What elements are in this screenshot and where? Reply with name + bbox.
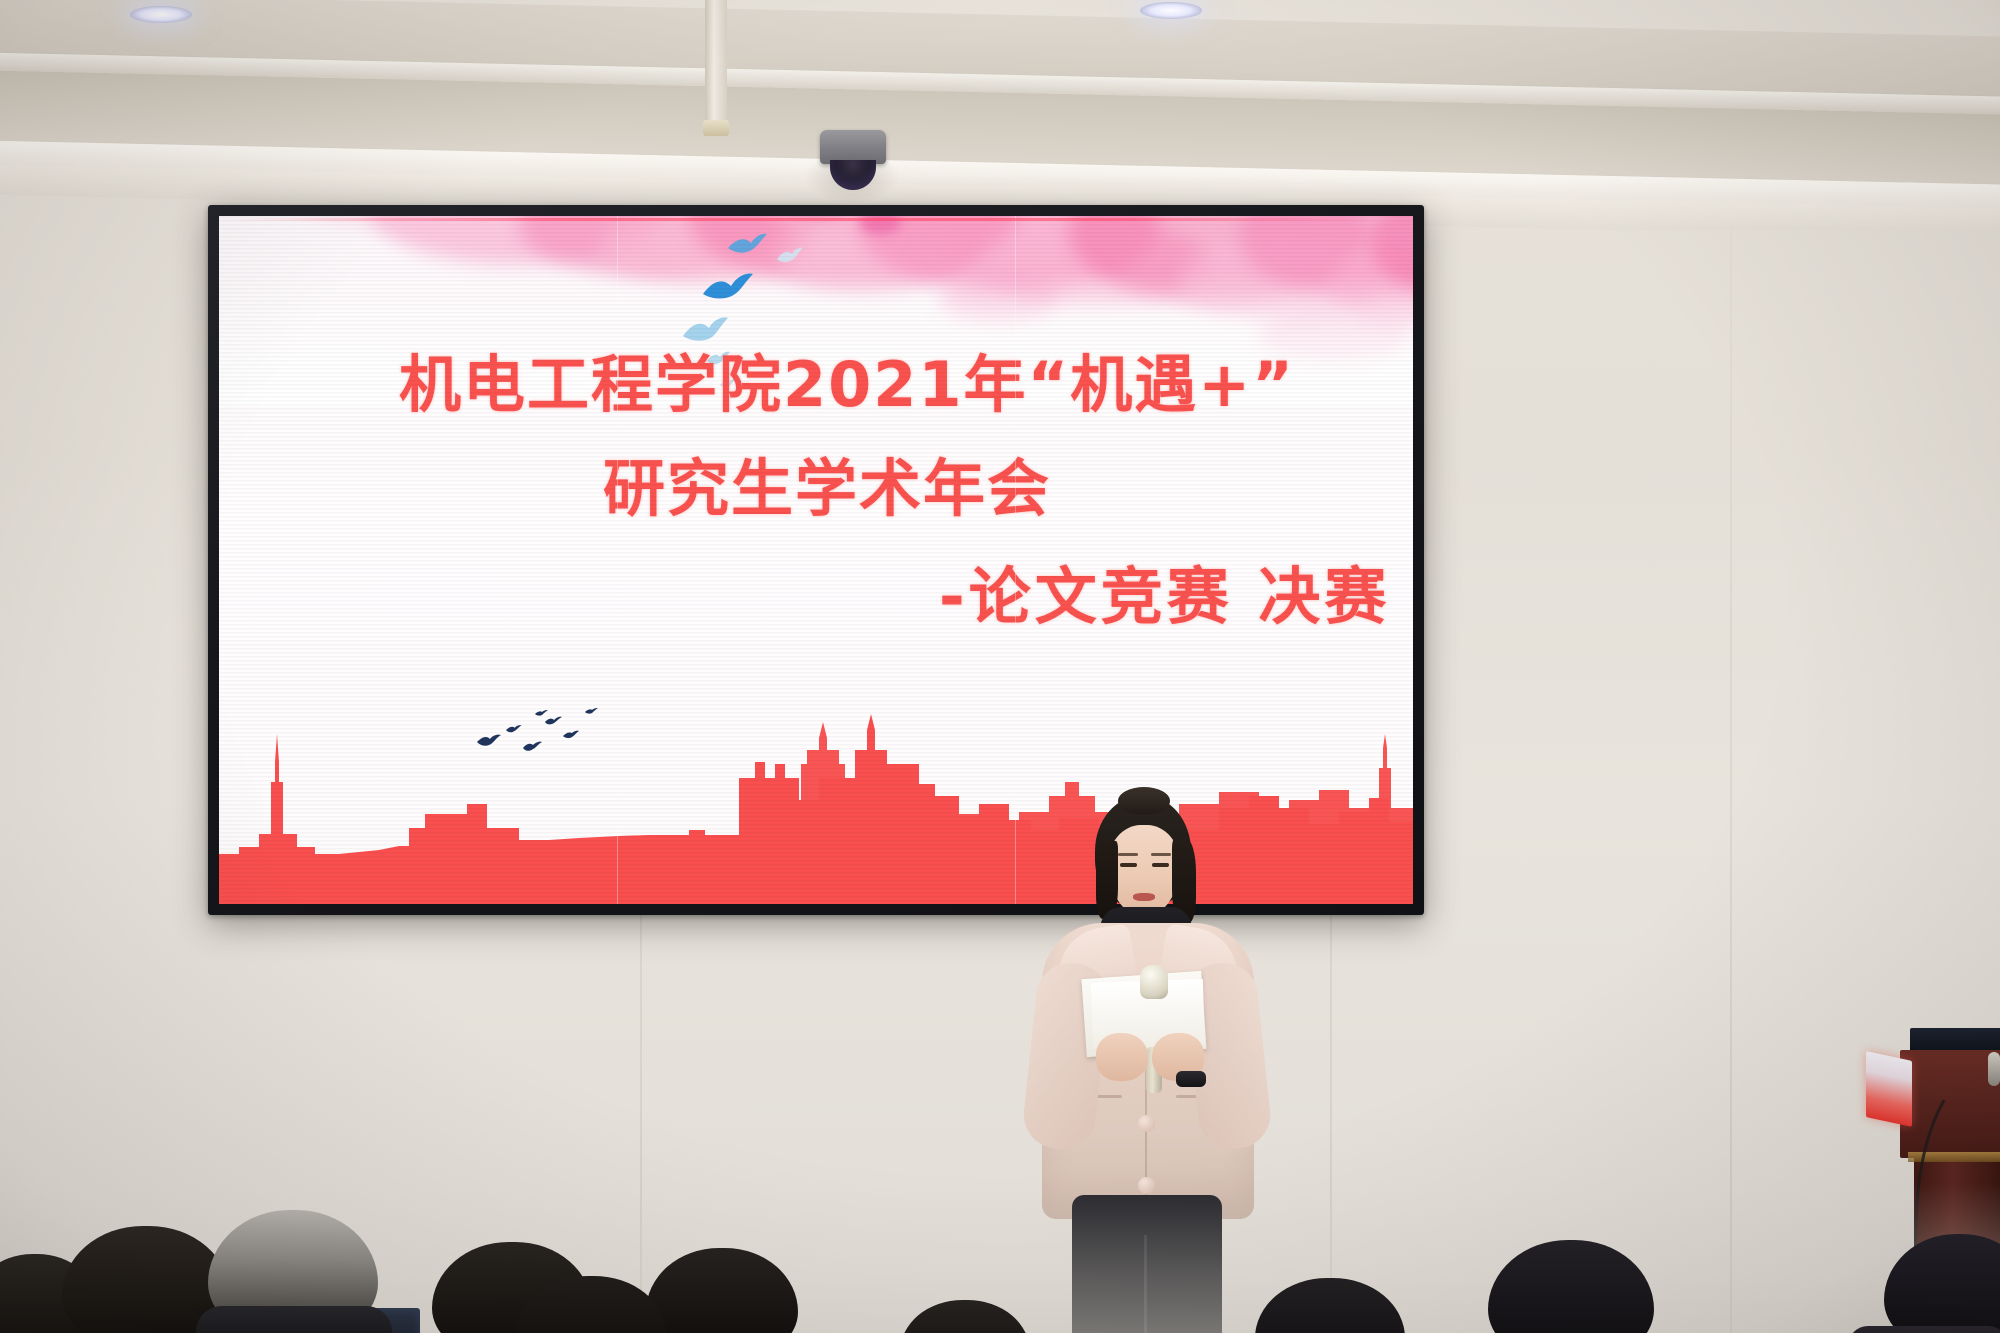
presenter-hair-bun	[1118, 787, 1170, 815]
presenter-brow-right	[1151, 853, 1171, 856]
presenter-eye-left	[1120, 863, 1137, 867]
slide-title-line-1: 机电工程学院2021年“机遇+”	[399, 334, 1295, 424]
bird-flock-icon	[467, 702, 617, 762]
screen-edge-glow	[222, 218, 1388, 221]
ceiling-spotlight-icon	[130, 6, 192, 23]
ceiling	[0, 0, 2000, 230]
presenter-coat-button	[1138, 1115, 1155, 1132]
conference-hall-photo: 机电工程学院2021年“机遇+” 研究生学术年会 -论文竞赛 决赛	[0, 0, 2000, 1333]
bird-icon	[725, 228, 769, 262]
handheld-microphone	[1140, 965, 1168, 999]
audience-head	[646, 1248, 798, 1333]
ceiling-pipe-cap	[703, 120, 729, 136]
bird-icon	[775, 244, 805, 270]
ceiling-spotlight-icon	[1140, 2, 1202, 19]
presenter-eye-right	[1152, 863, 1169, 867]
presenter-mouth	[1133, 893, 1155, 901]
audience-head	[1255, 1278, 1405, 1333]
audience-head	[1488, 1240, 1654, 1333]
wristwatch	[1176, 1071, 1206, 1087]
ceiling-drop-pipe	[705, 0, 727, 128]
slide-title-line-2: 研究生学术年会	[603, 438, 1051, 528]
podium-microphone	[1988, 1052, 2000, 1086]
audience-row	[0, 1150, 2000, 1333]
audience-head	[900, 1300, 1030, 1333]
audience-head	[1884, 1234, 2000, 1333]
audience-shoulders	[196, 1306, 392, 1333]
dome-security-camera	[820, 130, 886, 164]
bird-icon	[697, 264, 757, 312]
presenter-hand-left	[1096, 1033, 1148, 1081]
audience-shoulders	[1848, 1326, 2000, 1333]
presenter-brow-left	[1118, 853, 1138, 856]
